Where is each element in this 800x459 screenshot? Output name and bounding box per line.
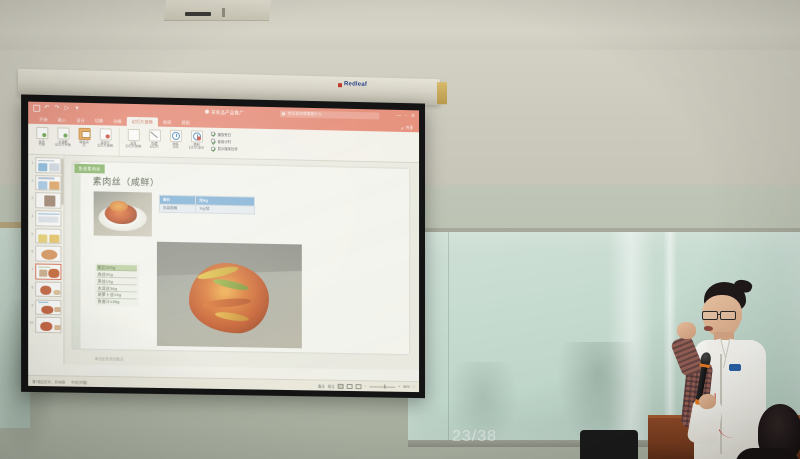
thumbnail-number: 9 (29, 299, 33, 307)
thumbnail-row[interactable]: 10 (29, 317, 62, 333)
ribbon-button-present-online[interactable]: 联机演 示 (74, 126, 95, 148)
slide-thumbnail[interactable] (35, 175, 61, 191)
ribbon-button-rehearse-timings[interactable]: 排练 计时 (165, 128, 186, 150)
present-online-icon (78, 127, 90, 139)
slide-hero-image[interactable] (157, 242, 302, 349)
zoom-slider[interactable] (369, 386, 395, 387)
zoom-in-icon[interactable]: + (398, 385, 400, 389)
photo-food-highlight (110, 201, 128, 212)
slide-thumbnail[interactable] (35, 193, 61, 209)
slide-thumbnail[interactable] (35, 246, 61, 262)
present-online-label-2: 示 (83, 143, 86, 147)
record-label-2: 幻灯片演示 (189, 145, 204, 149)
lecture-room-scene: 23/38 Redleaf (0, 0, 800, 459)
hero-image-caption: 鱼香素肉丝 (75, 164, 105, 174)
slide-thumbnail[interactable] (35, 317, 61, 333)
setup-label-2: 幻灯片放映 (126, 144, 142, 148)
thumbnail-row[interactable]: 7 (29, 263, 62, 279)
ribbon-group-setup: 设置 幻灯片放映 隐藏 幻灯片 (119, 127, 241, 158)
whiteboard-glare-secondary (663, 232, 677, 444)
page-watermark: 23/38 (452, 428, 497, 446)
setup-slideshow-icon (127, 128, 139, 140)
custom-slideshow-icon (99, 128, 111, 140)
ribbon-button-custom-slideshow[interactable]: 自定义 幻灯片放映 (95, 127, 116, 149)
custom-slideshow-label-2: 幻灯片放映 (97, 143, 113, 147)
ingredient-item: 鱼香汁136g (97, 299, 137, 306)
hide-slide-label-2: 幻灯片 (150, 144, 159, 148)
thumbnail-row[interactable]: 6 (29, 246, 62, 262)
notes-toggle[interactable]: 备注 (318, 383, 325, 388)
slideshow-options-checkboxes: 播放旁白 使用计时 显示媒体控件 (207, 129, 238, 151)
record-slideshow-icon (190, 130, 202, 142)
notes-pane[interactable]: 单击此处添加备注 (73, 352, 410, 374)
thumbnail-number: 3 (29, 192, 33, 200)
close-icon[interactable]: ✕ (411, 112, 415, 120)
slide-thumbnail[interactable] (35, 157, 61, 173)
zoom-slider-knob (384, 384, 386, 388)
tab-design[interactable]: 设计 (71, 116, 90, 125)
ceiling-vent (185, 12, 211, 16)
tab-home[interactable]: 开始 (34, 115, 53, 124)
ribbon-button-from-beginning[interactable]: 从头 开始 (31, 125, 52, 147)
view-slide-sorter-icon[interactable] (346, 383, 352, 388)
slide-thumbnail-selected[interactable] (35, 264, 61, 280)
thumbnail-number: 1 (29, 157, 33, 165)
slide-product-photo[interactable] (94, 191, 152, 236)
brand-dot-icon (338, 83, 342, 87)
window-controls[interactable]: — ▫ ✕ (396, 112, 415, 120)
thumbnail-row[interactable]: 3 (29, 192, 62, 208)
thumbnail-number: 8 (29, 281, 33, 289)
thumbnail-number: 7 (29, 263, 33, 271)
thumbnail-row[interactable]: 4 (29, 210, 62, 226)
audience-chair (580, 430, 638, 459)
table-row: 包装规格 1kg/袋 (159, 204, 254, 215)
slide-spec-table[interactable]: 单价 元/kg 包装规格 1kg/袋 (159, 195, 255, 215)
hide-slide-icon (148, 129, 160, 141)
document-icon (205, 110, 209, 114)
presenter-jacket-logo (729, 364, 741, 371)
checkbox-icon-show-media-controls (211, 147, 215, 151)
slide-thumbnail[interactable] (35, 228, 61, 244)
thumbnail-row[interactable]: 5 (29, 228, 62, 244)
slide-thumbnail[interactable] (35, 281, 61, 297)
ribbon-button-hide-slide[interactable]: 隐藏 幻灯片 (144, 128, 165, 150)
minimize-icon[interactable]: — (396, 112, 401, 120)
ribbon-button-from-current-slide[interactable]: 从当前 幻灯片开始 (52, 126, 73, 148)
thumbnail-number: 2 (29, 175, 33, 183)
checkbox-use-timings[interactable]: 使用计时 (211, 139, 238, 145)
thumbnail-row[interactable]: 9 (29, 299, 62, 315)
ingredient-list[interactable]: 配比300g 肉丝90g 笋丝19g 木耳丝36g 胡萝卜丝19g 鱼香汁136… (95, 263, 139, 307)
audience-member-shoulders (735, 448, 800, 459)
from-current-label-2: 幻灯片开始 (55, 142, 71, 146)
slide-editing-area: 素肉丝（咸鲜） 单价 元/kg (64, 156, 419, 371)
from-current-slide-icon (57, 127, 69, 139)
zoom-out-icon[interactable]: − (364, 384, 366, 388)
tab-insert[interactable]: 插入 (53, 115, 72, 124)
powerpoint-statusbar: 第7张幻灯片，共38张 中文(中国) 备注 批注 − + 56% ⛶ (28, 375, 419, 392)
ribbon-button-record-slideshow[interactable]: 录制 幻灯片演示 (186, 129, 207, 151)
powerpoint-window: ↶ ↷ ▷ ▾ 某食品产品推广 告诉我你想要做什么 — ▫ (28, 102, 419, 393)
checkbox-icon-play-narrations (211, 132, 215, 136)
presenter-raised-fist (677, 322, 696, 339)
spec-label-packaging: 包装规格 (159, 204, 195, 213)
language-indicator[interactable]: 中文(中国) (71, 379, 87, 384)
thumbnail-number: 10 (29, 317, 33, 325)
document-title: 某食品产品推广 (211, 109, 244, 115)
powerpoint-workspace: 1 2 3 4 (28, 155, 419, 370)
from-beginning-label-2: 开始 (39, 142, 45, 146)
rehearse-timings-clock-icon (169, 129, 181, 141)
checkbox-icon-use-timings (211, 139, 215, 143)
ribbon-button-setup-slideshow[interactable]: 设置 幻灯片放映 (123, 127, 144, 149)
thumbnail-row[interactable]: 1 (29, 157, 62, 173)
tab-transitions[interactable]: 切换 (90, 116, 109, 125)
tab-animations[interactable]: 动画 (108, 116, 126, 125)
presenter-mouth (704, 326, 713, 331)
checkbox-label-play-narrations: 播放旁白 (218, 131, 232, 136)
thumbnail-number: 5 (29, 228, 33, 236)
view-normal-icon[interactable] (338, 383, 344, 388)
slide-title[interactable]: 素肉丝（咸鲜） (93, 174, 160, 188)
slide-thumbnail[interactable] (35, 299, 61, 315)
checkbox-show-media-controls[interactable]: 显示媒体控件 (211, 146, 238, 152)
thumbnail-row[interactable]: 2 (29, 175, 62, 191)
slide-left-accent-bar (73, 162, 81, 349)
share-button[interactable]: ⇗ 共享 (400, 126, 413, 131)
checkbox-label-use-timings: 使用计时 (218, 139, 232, 144)
statusbar-right: 备注 批注 − + 56% ⛶ (318, 383, 415, 390)
presenter-glasses (701, 311, 743, 320)
slide-thumbnail-panel[interactable]: 1 2 3 4 (28, 155, 64, 365)
projection-surface: ↶ ↷ ▷ ▾ 某食品产品推广 告诉我你想要做什么 — ▫ (28, 102, 419, 393)
thumbnail-number: 4 (29, 210, 33, 218)
slide-indicator: 第7张幻灯片，共38张 (32, 378, 65, 384)
search-icon (282, 112, 285, 115)
comments-toggle[interactable]: 批注 (328, 383, 335, 388)
thumbnail-scrollbar[interactable] (61, 159, 63, 205)
tab-view[interactable]: 视图 (176, 118, 194, 127)
zoom-percentage[interactable]: 56% (403, 385, 410, 389)
thumbnail-number: 6 (29, 246, 33, 254)
rehearse-label-2: 计时 (172, 145, 178, 149)
projector-brand-label: Redleaf (344, 81, 404, 92)
ceiling-projector-mount (164, 0, 271, 21)
brand-text: Redleaf (344, 81, 367, 88)
slide-thumbnail[interactable] (35, 210, 61, 226)
current-slide[interactable]: 素肉丝（咸鲜） 单价 元/kg (73, 162, 410, 354)
share-icon: ⇗ (400, 126, 403, 131)
thumbnail-row[interactable]: 8 (29, 281, 62, 297)
share-label: 共享 (406, 126, 414, 131)
view-reading-icon[interactable] (355, 384, 361, 389)
search-placeholder: 告诉我你想要做什么 (288, 111, 322, 116)
tell-me-search-input[interactable]: 告诉我你想要做什么 (280, 110, 379, 119)
ceiling-screw (222, 8, 225, 17)
restore-icon[interactable]: ▫ (405, 112, 407, 120)
fit-to-window-icon[interactable]: ⛶ (413, 385, 415, 389)
spec-value-packaging: 1kg/袋 (196, 205, 255, 215)
from-beginning-icon (36, 126, 48, 138)
ribbon-group-start-slideshow: 从头 开始 从当前 幻灯片开始 (28, 125, 119, 156)
tab-review[interactable]: 审阅 (158, 118, 176, 127)
projection-screen: ↶ ↷ ▷ ▾ 某食品产品推广 告诉我你想要做什么 — ▫ (21, 94, 425, 398)
checkbox-play-narrations[interactable]: 播放旁白 (211, 131, 238, 137)
statusbar-left: 第7张幻灯片，共38张 中文(中国) (32, 378, 87, 384)
checkbox-label-show-media-controls: 显示媒体控件 (218, 146, 238, 151)
screen-housing-endcap (437, 82, 447, 104)
